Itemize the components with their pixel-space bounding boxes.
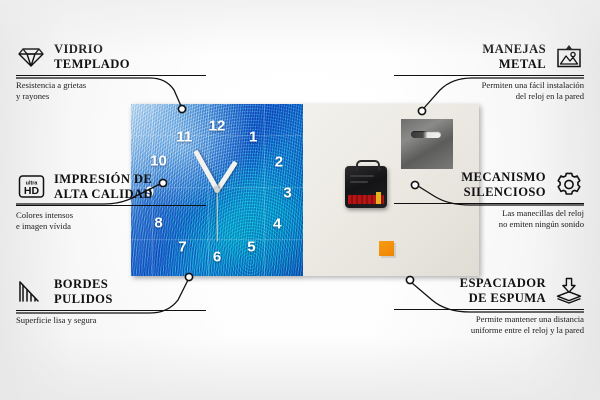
feature-mecanismo-silencioso: MECANISMO SILENCIOSO Las manecillas del … — [394, 170, 584, 231]
feature-description: Superficie lisa y segura — [16, 315, 206, 326]
clock-hand-hub — [214, 187, 220, 193]
feature-title-line: MANEJAS — [482, 42, 546, 57]
quartz-movement — [345, 166, 387, 208]
divider — [394, 75, 584, 76]
feature-desc-line: y rayones — [16, 91, 206, 102]
hanger-keyhole-slot — [411, 131, 441, 138]
svg-text:ultra: ultra — [25, 181, 38, 187]
glass-gloss — [131, 104, 303, 276]
foam-spacer — [379, 241, 394, 256]
framed-picture-icon — [554, 43, 584, 71]
feature-impresion-alta-calidad: ultra HD IMPRESIÓN DE ALTA CALIDAD Color… — [16, 172, 206, 233]
clock-numeral: 6 — [213, 250, 221, 265]
feature-title-line: IMPRESIÓN DE — [54, 172, 153, 187]
movement-detail — [350, 175, 374, 177]
clock-numeral: 12 — [209, 119, 226, 134]
feature-title-line: TEMPLADO — [54, 57, 130, 72]
polished-edge-icon — [16, 278, 46, 306]
clock-numeral: 4 — [273, 217, 281, 232]
feature-desc-line: Superficie lisa y segura — [16, 315, 206, 326]
feature-description: Las manecillas del reloj no emiten ningú… — [394, 208, 584, 231]
feature-title-line: BORDES — [54, 277, 113, 292]
ultra-hd-icon: ultra HD — [16, 173, 46, 201]
feature-title-line: DE ESPUMA — [460, 291, 546, 306]
feature-header: MANEJAS METAL — [394, 42, 584, 72]
foam-spacer-icon — [554, 277, 584, 305]
feature-title-line: PULIDOS — [54, 292, 113, 307]
feature-desc-line: del reloj en la pared — [394, 91, 584, 102]
clock-back-panel — [303, 104, 479, 276]
clock-numeral: 10 — [150, 153, 167, 168]
feature-title: ESPACIADOR DE ESPUMA — [460, 276, 546, 306]
product-composite: 12 1 2 3 4 5 6 7 8 9 10 11 — [131, 104, 479, 276]
feature-description: Colores intensos e imagen vívida — [16, 210, 206, 233]
divider — [394, 309, 584, 310]
feature-title-line: ESPACIADOR — [460, 276, 546, 291]
movement-detail — [350, 181, 368, 183]
feature-header: ultra HD IMPRESIÓN DE ALTA CALIDAD — [16, 172, 206, 202]
feature-title-line: VIDRIO — [54, 42, 130, 57]
divider — [16, 310, 206, 311]
feature-description: Permite mantener una distancia uniforme … — [394, 314, 584, 337]
feature-desc-line: Resistencia a grietas — [16, 80, 206, 91]
clock-numeral: 5 — [247, 239, 255, 254]
gear-icon — [554, 171, 584, 199]
feature-title: MECANISMO SILENCIOSO — [461, 170, 546, 200]
feature-desc-line: Las manecillas del reloj — [394, 208, 584, 219]
feature-desc-line: no emiten ningún sonido — [394, 219, 584, 230]
svg-text:HD: HD — [23, 185, 39, 197]
clock-numeral: 8 — [154, 215, 162, 230]
moire-texture-secondary — [131, 104, 303, 276]
feature-header: VIDRIO TEMPLADO — [16, 42, 206, 72]
feature-title: BORDES PULIDOS — [54, 277, 113, 307]
connector-lines — [0, 0, 600, 400]
clock-numeral: 2 — [275, 155, 283, 170]
clock-front-panel: 12 1 2 3 4 5 6 7 8 9 10 11 — [131, 104, 303, 276]
feature-title-line: SILENCIOSO — [461, 185, 546, 200]
feature-desc-line: Permiten una fácil instalación — [394, 80, 584, 91]
diamond-icon — [16, 43, 46, 71]
feature-desc-line: Permite mantener una distancia — [394, 314, 584, 325]
feature-header: BORDES PULIDOS — [16, 277, 206, 307]
clock-hour-hand — [215, 160, 237, 191]
feature-espaciador-espuma: ESPACIADOR DE ESPUMA Permite mantener un… — [394, 276, 584, 337]
feature-header: ESPACIADOR DE ESPUMA — [394, 276, 584, 306]
divider — [394, 203, 584, 204]
panel-gridlines — [131, 104, 303, 276]
divider — [16, 205, 206, 206]
feature-desc-line: Colores intensos — [16, 210, 206, 221]
feature-title: IMPRESIÓN DE ALTA CALIDAD — [54, 172, 153, 202]
feature-title-line: MECANISMO — [461, 170, 546, 185]
movement-hanging-loop — [356, 160, 380, 171]
feature-desc-line: uniforme entre el reloj y la pared — [394, 325, 584, 336]
feature-description: Permiten una fácil instalación del reloj… — [394, 80, 584, 103]
clock-second-hand — [216, 190, 217, 242]
clock-numeral: 7 — [178, 239, 186, 254]
moire-texture — [131, 104, 303, 276]
feature-manejas-metal: MANEJAS METAL Permiten una fácil instala… — [394, 42, 584, 103]
clock-numeral: 3 — [283, 186, 291, 201]
infographic-canvas: 12 1 2 3 4 5 6 7 8 9 10 11 — [0, 0, 600, 400]
feature-header: MECANISMO SILENCIOSO — [394, 170, 584, 200]
feature-vidrio-templado: VIDRIO TEMPLADO Resistencia a grietas y … — [16, 42, 206, 103]
feature-desc-line: e imagen vívida — [16, 221, 206, 232]
feature-title-line: METAL — [482, 57, 546, 72]
feature-title-line: ALTA CALIDAD — [54, 187, 153, 202]
battery-compartment — [348, 195, 384, 204]
clock-minute-hand — [193, 150, 219, 192]
feature-bordes-pulidos: BORDES PULIDOS Superficie lisa y segura — [16, 277, 206, 326]
feature-title: VIDRIO TEMPLADO — [54, 42, 130, 72]
feature-description: Resistencia a grietas y rayones — [16, 80, 206, 103]
feature-title: MANEJAS METAL — [482, 42, 546, 72]
metal-hanger-plate — [401, 119, 453, 169]
clock-numeral: 1 — [249, 129, 257, 144]
divider — [16, 75, 206, 76]
clock-numeral: 11 — [176, 129, 192, 144]
clock-numeral: 9 — [146, 184, 154, 199]
